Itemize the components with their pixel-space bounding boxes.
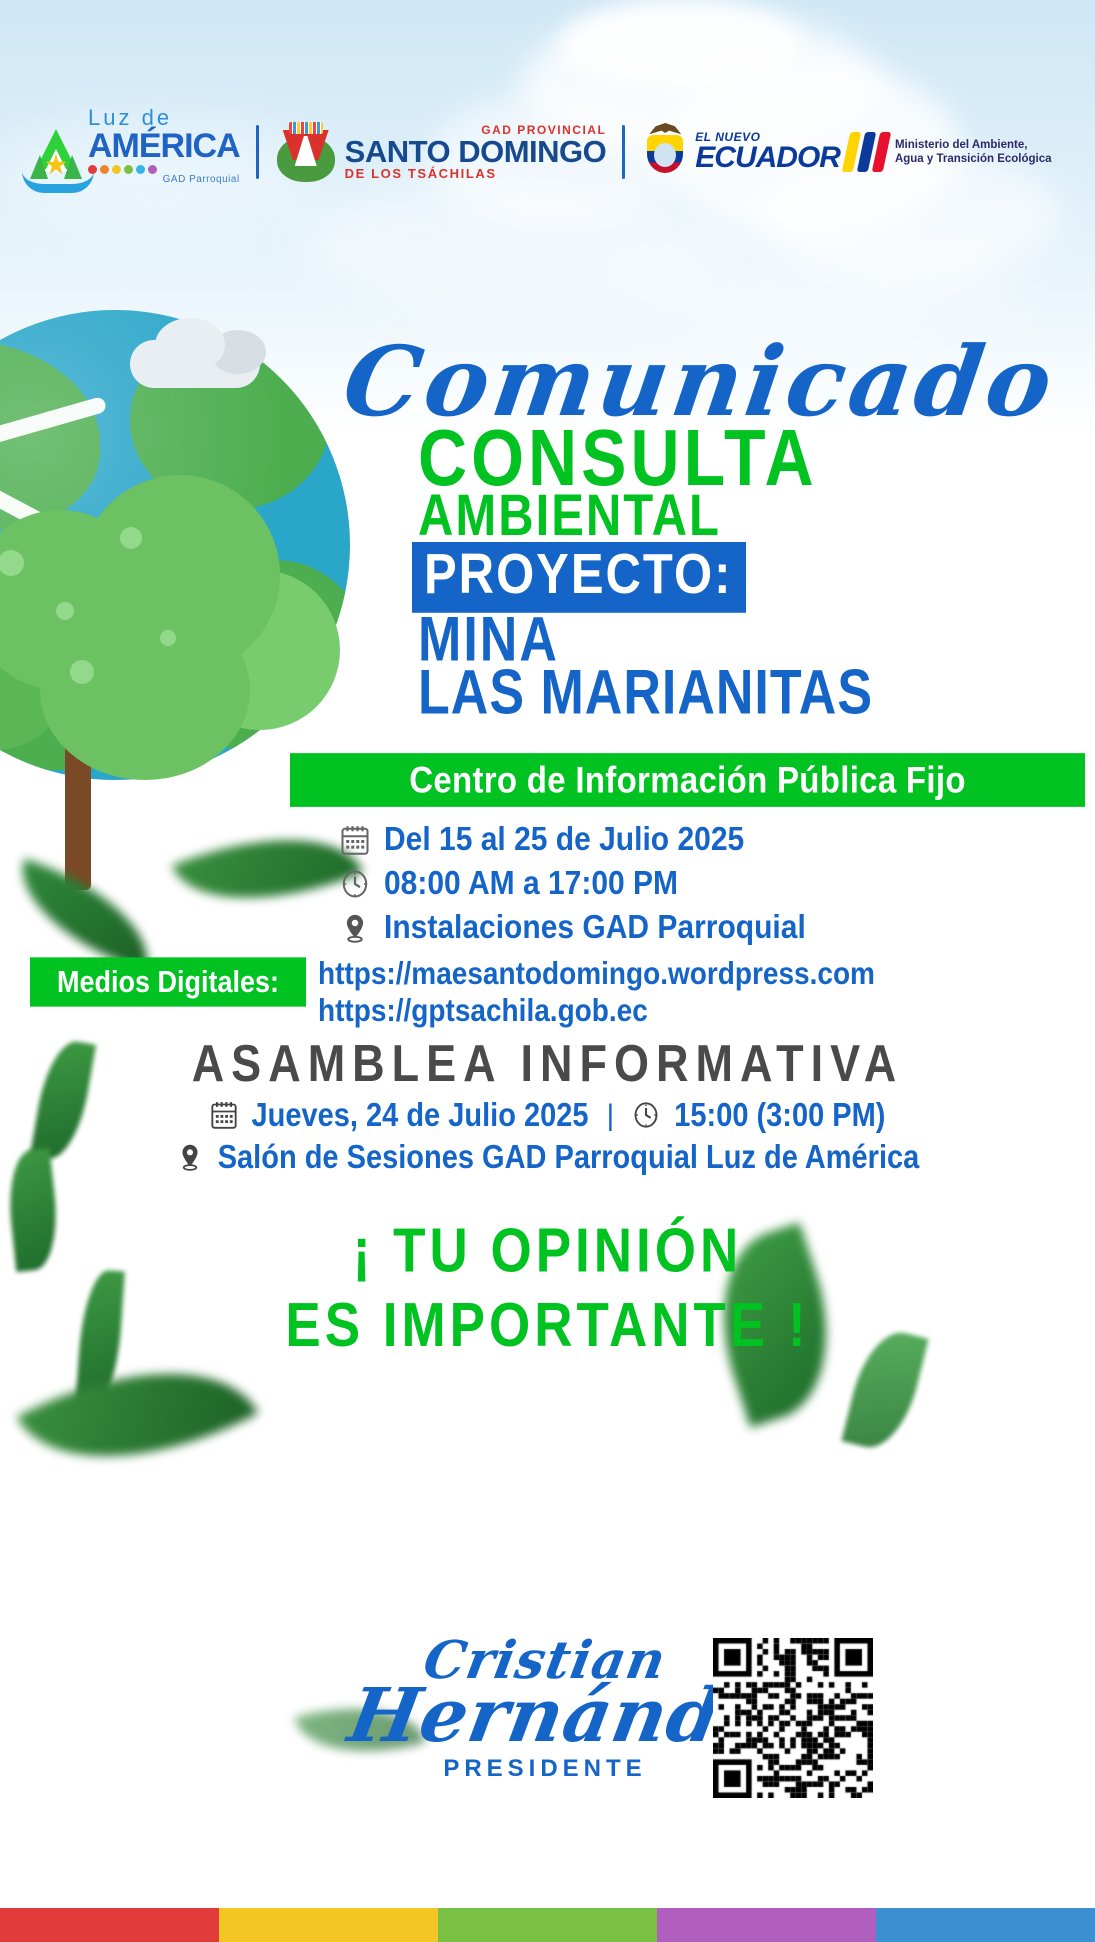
cloud-shape — [560, 0, 800, 90]
ecuador-flag-icon — [846, 132, 887, 172]
location-pin-icon — [176, 1141, 206, 1175]
logo-dot — [136, 165, 145, 174]
asamblea-place-text: Salón de Sesiones GAD Parroquial Luz de … — [218, 1139, 920, 1177]
logo-dot — [124, 165, 133, 174]
clock-icon — [340, 867, 370, 901]
bottom-bar-segment — [438, 1908, 657, 1942]
luz-de-america-emblem-icon — [28, 127, 84, 185]
logo-dot-row — [88, 165, 240, 174]
cloud-shape — [600, 230, 1020, 340]
digital-url-2[interactable]: https://gptsachila.gob.ec — [318, 991, 875, 1032]
info-row-time: 08:00 AM a 17:00 PM — [340, 864, 1095, 904]
label-medios-digitales: Medios Digitales: — [30, 957, 306, 1006]
heading-asamblea-informativa: ASAMBLEA INFORMATIVA — [0, 1034, 1095, 1094]
logo-divider — [622, 125, 625, 179]
callout-line1: ¡ TU OPINIÓN — [0, 1215, 1095, 1289]
logo-dot — [112, 165, 121, 174]
santo-domingo-shield-icon — [275, 120, 337, 184]
callout-opinion: ¡ TU OPINIÓN ES IMPORTANTE ! — [0, 1215, 1095, 1363]
title-ambiental: AMBIENTAL — [418, 487, 721, 546]
logo-luz-de-america-sub: GAD Parroquial — [88, 175, 240, 185]
asamblea-time-text: 15:00 (3:00 PM) — [674, 1097, 885, 1135]
digital-url-1[interactable]: https://maesantodomingo.wordpress.com — [318, 954, 875, 995]
header-logo-bar: Luz de AMÉRICA GAD Parroquial GAD PROVIN… — [0, 112, 1095, 192]
project-name-line2: LAS MARIANITAS — [418, 661, 873, 724]
bottom-color-bar — [0, 1908, 1095, 1942]
signature-role: PRESIDENTE — [350, 1755, 740, 1783]
centro-informacion-details: Del 15 al 25 de Julio 2025 08:00 AM a 17… — [340, 820, 1095, 952]
info-row-date: Del 15 al 25 de Julio 2025 — [340, 820, 1095, 860]
section-banner-centro-informacion: Centro de Información Pública Fijo — [290, 753, 1085, 807]
info-place-text: Instalaciones GAD Parroquial — [384, 909, 806, 947]
logo-divider — [256, 125, 259, 179]
bottom-bar-segment — [0, 1908, 219, 1942]
qr-code[interactable] — [713, 1638, 873, 1798]
logo-ministry-text: Ministerio del Ambiente, Agua y Transici… — [895, 138, 1055, 167]
logo-santo-domingo: GAD PROVINCIAL SANTO DOMINGO DE LOS TSÁC… — [275, 120, 607, 184]
asamblea-row-datetime: Jueves, 24 de Julio 2025 | 15:00 (3:00 P… — [0, 1095, 1095, 1137]
bottom-bar-segment — [876, 1908, 1095, 1942]
digital-media-urls: https://maesantodomingo.wordpress.com ht… — [318, 954, 875, 1028]
logo-luz-de-america-line1: Luz de — [88, 107, 240, 129]
logo-santo-domingo-line3: DE LOS TSÁCHILAS — [345, 167, 607, 180]
calendar-icon — [340, 823, 370, 857]
logo-el-nuevo-ecuador: EL NUEVO ECUADOR Ministerio del Ambiente… — [641, 123, 1055, 181]
ecuador-coat-of-arms-icon — [641, 123, 689, 181]
logo-dot — [100, 165, 109, 174]
location-pin-icon — [340, 911, 370, 945]
title-proyecto-label: PROYECTO: — [412, 542, 746, 613]
info-time-text: 08:00 AM a 17:00 PM — [384, 865, 678, 903]
info-row-place: Instalaciones GAD Parroquial — [340, 908, 1095, 948]
bottom-bar-segment — [219, 1908, 438, 1942]
clock-icon — [632, 1099, 662, 1133]
logo-dot — [148, 165, 157, 174]
tree-foliage — [40, 600, 250, 780]
logo-luz-de-america: Luz de AMÉRICA GAD Parroquial — [28, 119, 240, 185]
asamblea-date-text: Jueves, 24 de Julio 2025 — [252, 1097, 589, 1135]
logo-ecuador-line2: ECUADOR — [695, 143, 840, 173]
logo-luz-de-america-line2: AMÉRICA — [88, 129, 240, 163]
calendar-icon — [210, 1099, 240, 1133]
bottom-bar-segment — [657, 1908, 876, 1942]
asamblea-separator: | — [600, 1099, 620, 1133]
poster-canvas: Luz de AMÉRICA GAD Parroquial GAD PROVIN… — [0, 0, 1095, 1942]
callout-line2: ES IMPORTANTE ! — [0, 1289, 1095, 1363]
info-date-text: Del 15 al 25 de Julio 2025 — [384, 821, 744, 859]
logo-santo-domingo-line2: SANTO DOMINGO — [345, 136, 607, 167]
cloud-shape — [155, 318, 225, 372]
signature-last-name: Hernández — [342, 1673, 747, 1759]
asamblea-details: Jueves, 24 de Julio 2025 | 15:00 (3:00 P… — [0, 1095, 1095, 1179]
asamblea-row-place: Salón de Sesiones GAD Parroquial Luz de … — [0, 1137, 1095, 1179]
signature-block: Cristian Hernández PRESIDENTE — [350, 1630, 740, 1783]
